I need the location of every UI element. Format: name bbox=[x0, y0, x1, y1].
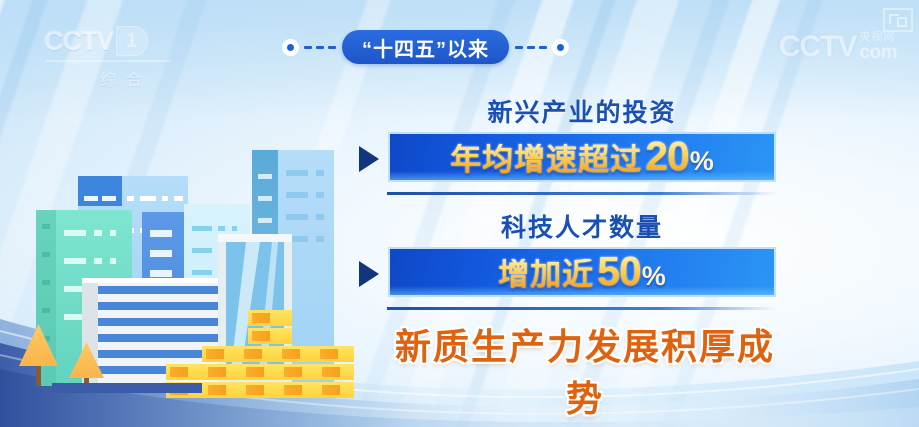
stat-banner-number: 50 bbox=[597, 251, 641, 292]
stat-banner-underline bbox=[387, 192, 777, 195]
city-skyline-illustration bbox=[14, 138, 364, 400]
badge-dot-right-icon bbox=[553, 40, 568, 55]
stat-banner: 增加近 50 % bbox=[388, 247, 776, 297]
stat-banner-percent: % bbox=[690, 148, 714, 175]
badge-dashes-right-icon bbox=[515, 46, 547, 49]
stat-banner: 年均增速超过 20 % bbox=[388, 132, 776, 182]
stat-banner-number: 20 bbox=[645, 136, 689, 177]
title-badge-group: “十四五”以来 bbox=[283, 29, 568, 65]
cctv-logo-rule bbox=[46, 60, 171, 62]
stat-banner-label: 增加近 bbox=[498, 259, 594, 290]
bottom-slogan: 新质生产力发展积厚成势 bbox=[380, 318, 790, 422]
title-badge-pill: “十四五”以来 bbox=[342, 30, 509, 64]
badge-dashes-left-icon bbox=[304, 46, 336, 49]
stat-block-talent: 科技人才数量 增加近 50 % bbox=[388, 215, 776, 303]
stat-kicker: 科技人才数量 bbox=[388, 215, 776, 243]
stat-block-investment: 新兴产业的投资 年均增速超过 20 % bbox=[388, 100, 776, 188]
ground-bar bbox=[52, 383, 202, 393]
cctv-logo-mark: CCTV bbox=[44, 26, 114, 57]
watermark-main-text: CCTV bbox=[779, 32, 857, 62]
watermark-com-text: com bbox=[859, 43, 897, 62]
stat-banner-underline bbox=[387, 307, 777, 310]
stat-banner-percent: % bbox=[642, 263, 666, 290]
broadcast-graphic-stage: CCTV 1 综合 CCTV 央视网 com “十四五”以来 新兴产业的投资 年… bbox=[0, 0, 919, 427]
badge-dot-left-icon bbox=[283, 40, 298, 55]
cctv-logo-subtitle: 综合 bbox=[44, 66, 194, 90]
cctv-com-watermark: CCTV 央视网 com bbox=[779, 22, 897, 62]
stat-banner-label: 年均增速超过 bbox=[450, 144, 642, 175]
cctv1-channel-logo: CCTV 1 综合 bbox=[44, 24, 194, 90]
stat-kicker: 新兴产业的投资 bbox=[388, 100, 776, 128]
cctv-logo-number: 1 bbox=[116, 26, 148, 56]
frame-icon bbox=[883, 8, 913, 32]
